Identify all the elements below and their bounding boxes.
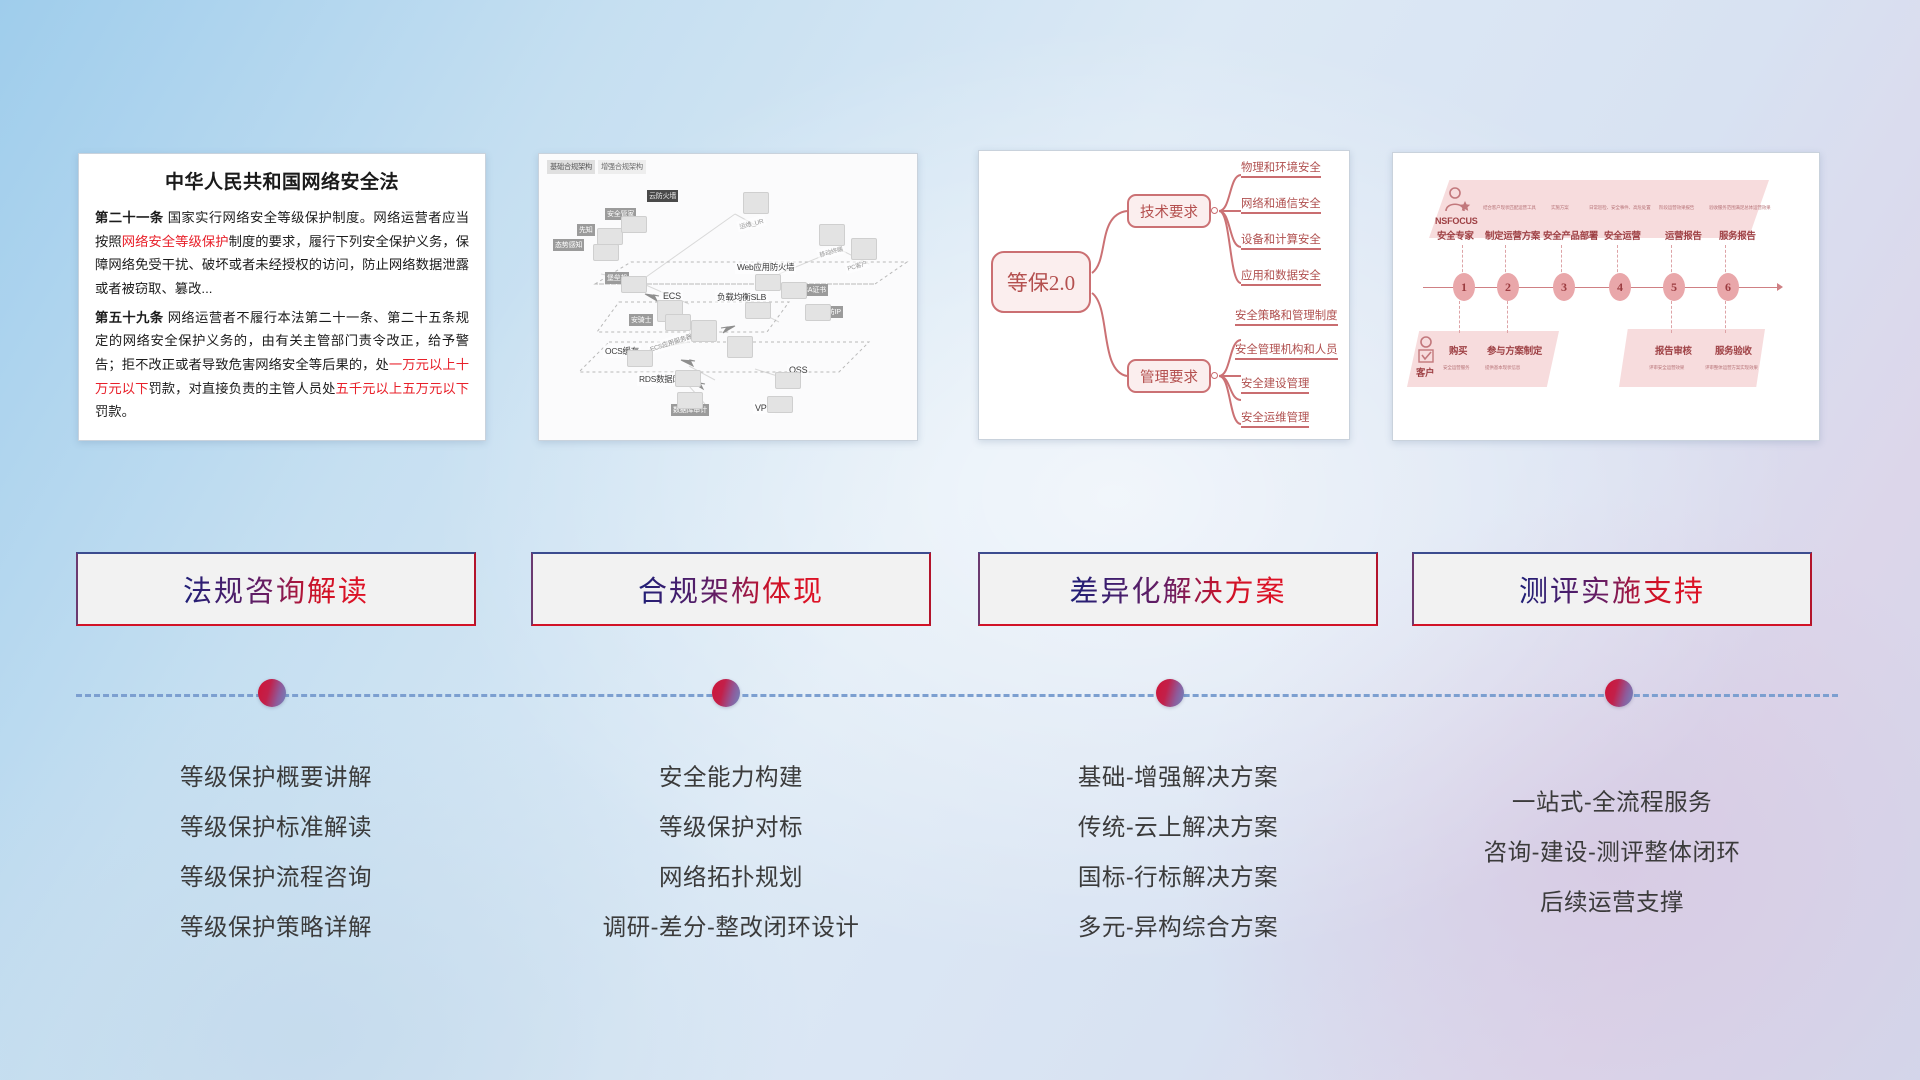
detail-item: 网络拓扑规划 <box>531 852 931 902</box>
arch-label-waf: Web应用防火墙 <box>735 260 796 274</box>
timeline-top-title: 安全产品部署 <box>1543 228 1598 242</box>
timeline-top-title: 安全运营 <box>1604 228 1641 242</box>
nsfocus-customer-band-right <box>1619 329 1765 387</box>
law-article-59-highlight-2: 五千元以上五万元以下 <box>335 381 469 396</box>
arch-node-icon <box>805 304 831 321</box>
headline-box-assessment-support[interactable]: 测评实施支持 <box>1412 552 1812 626</box>
timeline-connector <box>1725 301 1726 333</box>
arch-node-icon <box>593 244 619 261</box>
nsfocus-timeline: NSFOCUS 安全专家 客户 1 2 3 4 5 <box>1393 153 1819 440</box>
detail-item: 传统-云上解决方案 <box>978 802 1378 852</box>
detail-column-assessment-support: 一站式-全流程服务 咨询-建设-测评整体闭环 后续运营支撑 <box>1412 777 1812 927</box>
law-article-21-highlight: 网络安全等级保护 <box>122 234 229 249</box>
detail-item: 咨询-建设-测评整体闭环 <box>1412 827 1812 877</box>
timeline-connector <box>1671 301 1672 333</box>
arch-label-situational-awareness: 态势感知 <box>553 239 584 251</box>
mindmap-leaf: 安全策略和管理制度 <box>1235 307 1338 326</box>
detail-item: 后续运营支撑 <box>1412 877 1812 927</box>
timeline-bottom-subtitle: 提供基本现状信息 <box>1485 365 1520 371</box>
law-article-21-label: 第二十一条 <box>95 210 164 225</box>
arch-node-icon <box>677 392 703 409</box>
timeline-dashed-line <box>76 694 1838 697</box>
detail-item: 等级保护流程咨询 <box>76 852 476 902</box>
timeline-top-subtitle: 日常巡检、安全事件、高危处置 <box>1589 205 1651 211</box>
timeline-bottom-subtitle: 安全运营服务 <box>1443 365 1469 371</box>
arch-node-icon <box>621 276 647 293</box>
expert-brand-label: NSFOCUS <box>1435 216 1478 226</box>
timeline-step-marker[interactable]: 5 <box>1663 273 1685 301</box>
mindmap-leaf: 安全建设管理 <box>1241 375 1309 394</box>
arch-label-cloud-firewall: 云防火墙 <box>647 190 678 202</box>
mindmap-root-node: 等保2.0 <box>991 251 1091 313</box>
expert-role-label: 安全专家 <box>1437 228 1474 242</box>
mindmap-leaf: 网络和通信安全 <box>1241 195 1321 214</box>
timeline-node-3[interactable] <box>1156 679 1184 707</box>
card-nsfocus-operation-timeline[interactable]: NSFOCUS 安全专家 客户 1 2 3 4 5 <box>1392 152 1820 441</box>
law-card-title: 中华人民共和国网络安全法 <box>95 167 469 194</box>
arch-node-icon <box>781 282 807 299</box>
detail-column-regulation-consulting: 等级保护概要讲解 等级保护标准解读 等级保护流程咨询 等级保护策略详解 <box>76 752 476 952</box>
timeline-bottom-title: 报告审核 <box>1655 343 1692 357</box>
arch-node-icon <box>851 238 877 260</box>
timeline-bottom-subtitle: 评审整体运营方案实现效果 <box>1705 365 1758 371</box>
headline-box-differentiated-solution[interactable]: 差异化解决方案 <box>978 552 1378 626</box>
headline-label: 差异化解决方案 <box>1069 568 1286 610</box>
arch-node-icon <box>665 314 691 331</box>
mindmap-leaf: 设备和计算安全 <box>1241 231 1321 250</box>
detail-item: 安全能力构建 <box>531 752 931 802</box>
law-article-59-text-b: 罚款，对直接负责的主管人员处 <box>148 381 335 396</box>
arch-node-icon <box>819 224 845 246</box>
detail-item: 多元-异构综合方案 <box>978 902 1378 952</box>
headline-box-compliance-architecture[interactable]: 合规架构体现 <box>531 552 931 626</box>
detail-item: 调研-差分-整改闭环设计 <box>531 902 931 952</box>
law-article-59: 第五十九条 网络运营者不履行本法第二十一条、第二十五条规定的网络安全保护义务的，… <box>95 306 469 424</box>
arch-node-icon <box>597 228 623 245</box>
detail-item: 等级保护策略详解 <box>76 902 476 952</box>
detail-item: 国标-行标解决方案 <box>978 852 1378 902</box>
arch-node-icon <box>675 370 701 387</box>
headline-box-regulation-consulting[interactable]: 法规咨询解读 <box>76 552 476 626</box>
timeline-arrow-icon <box>1777 283 1783 291</box>
timeline-top-subtitle: 验收服务范围满足总体运营效果 <box>1709 205 1771 211</box>
timeline-step-marker[interactable]: 3 <box>1553 273 1575 301</box>
law-article-59-text-c: 罚款。 <box>95 404 135 419</box>
arch-node-icon <box>755 274 781 291</box>
mindmap-branch-management: 管理要求 <box>1127 359 1211 393</box>
arch-node-icon <box>621 216 647 233</box>
headline-label: 测评实施支持 <box>1519 568 1705 610</box>
timeline-step-marker[interactable]: 2 <box>1497 273 1519 301</box>
timeline-bottom-title: 服务验收 <box>1715 343 1752 357</box>
arch-node-icon <box>691 320 717 342</box>
detail-column-differentiated-solution: 基础-增强解决方案 传统-云上解决方案 国标-行标解决方案 多元-异构综合方案 <box>978 752 1378 952</box>
detail-column-compliance-architecture: 安全能力构建 等级保护对标 网络拓扑规划 调研-差分-整改闭环设计 <box>531 752 931 952</box>
headline-label: 合规架构体现 <box>638 568 824 610</box>
screenshot-card-row: 中华人民共和国网络安全法 第二十一条 国家实行网络安全等级保护制度。网络运营者应… <box>0 0 1920 470</box>
arch-node-icon <box>727 336 753 358</box>
timeline-top-title: 运营报告 <box>1665 228 1702 242</box>
arch-label-aqs: 安骑士 <box>629 314 653 326</box>
detail-item: 基础-增强解决方案 <box>978 752 1378 802</box>
detail-item: 等级保护概要讲解 <box>76 752 476 802</box>
arch-node-icon <box>743 192 769 214</box>
timeline-step-marker[interactable]: 4 <box>1609 273 1631 301</box>
timeline-step-marker[interactable]: 6 <box>1717 273 1739 301</box>
law-article-59-label: 第五十九条 <box>95 310 164 325</box>
arch-node-icon <box>745 302 771 319</box>
mindmap-leaf: 安全运维管理 <box>1241 409 1309 428</box>
timeline-bottom-title: 参与方案制定 <box>1487 343 1542 357</box>
law-article-21: 第二十一条 国家实行网络安全等级保护制度。网络运营者应当按照网络安全等级保护制度… <box>95 206 469 301</box>
timeline-node-1[interactable] <box>258 679 286 707</box>
card-compliance-architecture[interactable]: 基础合规架构 增强合规架构 <box>538 153 918 441</box>
timeline-bottom-subtitle: 评审安全运营效果 <box>1649 365 1684 371</box>
timeline-top-subtitle: 实施方案 <box>1551 205 1569 211</box>
timeline-top-subtitle: 结合客户现状匹配运营工具 <box>1483 205 1536 211</box>
timeline-node-4[interactable] <box>1605 679 1633 707</box>
architecture-diagram: 基础合规架构 增强合规架构 <box>539 154 917 440</box>
arch-label-xianzhi: 先知 <box>577 224 595 236</box>
timeline-connector <box>1459 301 1460 333</box>
arch-node-icon <box>627 350 653 367</box>
mindmap-collapse-dot-icon[interactable] <box>1211 207 1218 214</box>
detail-item: 等级保护对标 <box>531 802 931 852</box>
timeline-top-title: 服务报告 <box>1719 228 1756 242</box>
process-timeline <box>0 688 1920 702</box>
timeline-node-2[interactable] <box>712 679 740 707</box>
timeline-bottom-title: 购买 <box>1449 343 1467 357</box>
card-cybersecurity-law[interactable]: 中华人民共和国网络安全法 第二十一条 国家实行网络安全等级保护制度。网络运营者应… <box>78 153 486 441</box>
mindmap-branch-technical: 技术要求 <box>1127 194 1211 228</box>
mindmap-leaf: 安全管理机构和人员 <box>1235 341 1338 360</box>
mindmap-leaf: 应用和数据安全 <box>1241 267 1321 286</box>
timeline-connector <box>1507 301 1508 333</box>
customer-role-label: 客户 <box>1416 365 1434 379</box>
arch-node-icon <box>767 396 793 413</box>
detail-item: 等级保护标准解读 <box>76 802 476 852</box>
timeline-step-marker[interactable]: 1 <box>1453 273 1475 301</box>
arch-node-icon <box>775 372 801 389</box>
timeline-top-subtitle: 阶段运营效果报告 <box>1659 205 1694 211</box>
timeline-top-title: 制定运营方案 <box>1485 228 1540 242</box>
card-dengbao-mindmap[interactable]: 等保2.0 技术要求 管理要求 物理和环境安全 网络和通信安全 设备和计算安全 … <box>978 150 1350 440</box>
headline-label: 法规咨询解读 <box>183 568 369 610</box>
mindmap: 等保2.0 技术要求 管理要求 物理和环境安全 网络和通信安全 设备和计算安全 … <box>979 151 1349 439</box>
mindmap-collapse-dot-icon[interactable] <box>1211 372 1218 379</box>
mindmap-leaf: 物理和环境安全 <box>1241 159 1321 178</box>
detail-item: 一站式-全流程服务 <box>1412 777 1812 827</box>
